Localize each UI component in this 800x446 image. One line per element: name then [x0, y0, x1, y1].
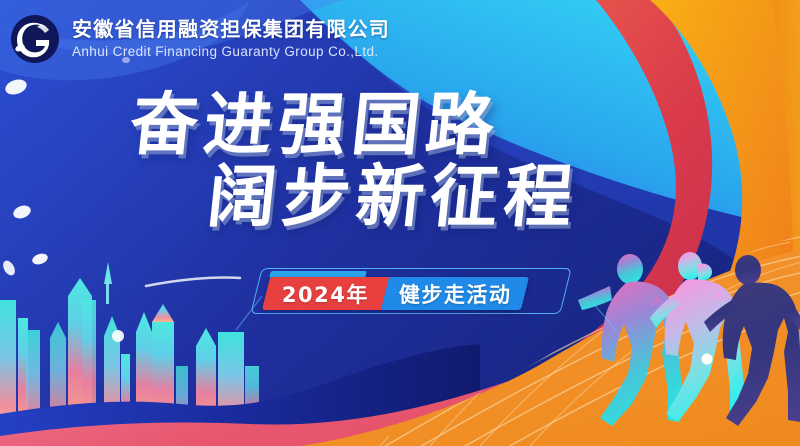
subtitle-year-segment: 2024年 — [262, 277, 389, 310]
promotional-banner: 安徽省信用融资担保集团有限公司 Anhui Credit Financing G… — [0, 0, 800, 446]
subtitle-year-label: 2024年 — [282, 279, 369, 309]
event-subtitle-banner: 2024年 健步走活动 — [252, 266, 572, 318]
company-name-en: Anhui Credit Financing Guaranty Group Co… — [72, 45, 390, 59]
subtitle-bar: 2024年 健步走活动 — [262, 277, 530, 310]
brand-header: 安徽省信用融资担保集团有限公司 Anhui Credit Financing G… — [8, 12, 390, 66]
subtitle-event-segment: 健步走活动 — [381, 277, 530, 310]
company-logo-icon — [8, 12, 62, 66]
subtitle-event-label: 健步走活动 — [399, 279, 512, 309]
background-artwork — [0, 0, 800, 446]
company-name-cn: 安徽省信用融资担保集团有限公司 — [72, 19, 390, 39]
